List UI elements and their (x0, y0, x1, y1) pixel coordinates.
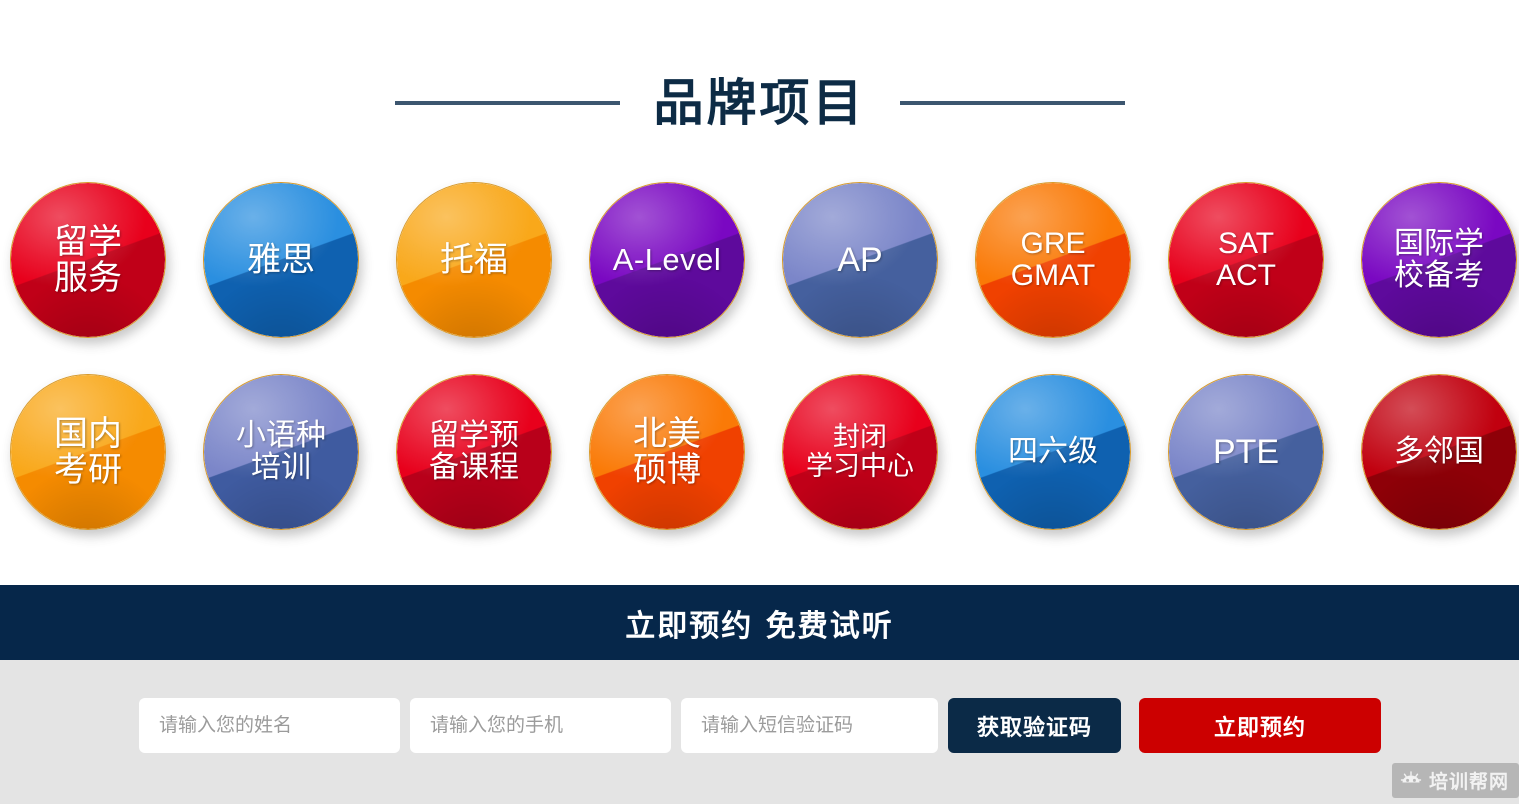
program-label-line: GRE (1011, 228, 1095, 260)
program-label-line: 雅思 (247, 242, 315, 278)
program-label: GREGMAT (1005, 228, 1101, 292)
program-bubble[interactable]: 多邻国 (1361, 374, 1517, 530)
program-label: 多邻国 (1388, 436, 1490, 468)
program-cell: 国内考研 (10, 370, 203, 562)
program-cell: SATACT (1168, 178, 1361, 370)
program-cell: 封闭学习中心 (782, 370, 975, 562)
program-bubble[interactable]: 北美硕博 (589, 374, 745, 530)
cta-banner-text: 立即预约 免费试听 (625, 601, 893, 645)
program-bubble[interactable]: 小语种培训 (203, 374, 359, 530)
program-label-line: 服务 (54, 260, 122, 296)
program-cell: PTE (1168, 370, 1361, 562)
program-grid: 留学服务雅思托福A-LevelAPGREGMATSATACT国际学校备考 国内考… (0, 178, 1519, 562)
phone-input[interactable] (410, 698, 671, 753)
program-cell: 国际学校备考 (1361, 178, 1519, 370)
program-bubble[interactable]: PTE (1168, 374, 1324, 530)
program-label: A-Level (607, 244, 728, 277)
program-label-line: 托福 (440, 242, 508, 278)
program-row-2: 国内考研小语种培训留学预备课程北美硕博封闭学习中心四六级PTE多邻国 (0, 370, 1519, 562)
title-rule-right (900, 101, 1125, 105)
sun-face-icon (1400, 771, 1422, 791)
appointment-form: 获取验证码 立即预约 (139, 698, 1381, 753)
program-label-line: 考研 (54, 452, 122, 488)
page-title: 品牌项目 (654, 78, 866, 128)
program-label-line: PTE (1213, 434, 1279, 470)
program-label-line: SAT (1216, 228, 1276, 260)
program-bubble[interactable]: 雅思 (203, 182, 359, 338)
sms-code-input[interactable] (681, 698, 938, 753)
program-bubble[interactable]: 留学服务 (10, 182, 166, 338)
program-label-line: 学习中心 (806, 452, 914, 481)
program-label: 北美硕博 (627, 416, 707, 488)
title-rule-left (395, 101, 620, 105)
program-bubble[interactable]: 国际学校备考 (1361, 182, 1517, 338)
program-label-line: 硕博 (633, 452, 701, 488)
program-label-line: 四六级 (1008, 436, 1098, 468)
program-cell: 留学服务 (10, 178, 203, 370)
program-label: 留学预备课程 (423, 420, 525, 484)
name-input[interactable] (139, 698, 400, 753)
program-label: 留学服务 (48, 224, 128, 296)
program-cell: GREGMAT (975, 178, 1168, 370)
program-label-line: 国内 (54, 416, 122, 452)
site-watermark: 培训帮网 (1392, 763, 1519, 798)
program-label: SATACT (1210, 228, 1282, 292)
program-label-line: 多邻国 (1394, 436, 1484, 468)
program-label: AP (831, 242, 888, 278)
program-bubble[interactable]: AP (782, 182, 938, 338)
program-label-line: 封闭 (806, 423, 914, 452)
program-bubble[interactable]: A-Level (589, 182, 745, 338)
program-cell: 小语种培训 (203, 370, 396, 562)
program-bubble[interactable]: GREGMAT (975, 182, 1131, 338)
program-cell: 留学预备课程 (396, 370, 589, 562)
program-row-1: 留学服务雅思托福A-LevelAPGREGMATSATACT国际学校备考 (0, 178, 1519, 370)
program-bubble[interactable]: 四六级 (975, 374, 1131, 530)
program-label-line: A-Level (613, 244, 722, 277)
watermark-text: 培训帮网 (1429, 767, 1509, 794)
appointment-form-strip: 获取验证码 立即预约 (0, 660, 1519, 804)
program-cell: 托福 (396, 178, 589, 370)
submit-appointment-button[interactable]: 立即预约 (1139, 698, 1381, 753)
program-label-line: 小语种 (236, 420, 326, 452)
program-label-line: 国际学 (1394, 228, 1484, 260)
program-cell: 多邻国 (1361, 370, 1519, 562)
page-header: 品牌项目 (0, 60, 1519, 146)
program-label: 小语种培训 (230, 420, 332, 484)
program-label-line: 校备考 (1394, 260, 1484, 292)
get-sms-code-button[interactable]: 获取验证码 (948, 698, 1121, 753)
program-cell: 雅思 (203, 178, 396, 370)
program-cell: AP (782, 178, 975, 370)
program-label: 托福 (434, 242, 514, 278)
program-label-line: GMAT (1011, 260, 1095, 292)
program-cell: 北美硕博 (589, 370, 782, 562)
program-label: 雅思 (241, 242, 321, 278)
program-label-line: 备课程 (429, 452, 519, 484)
program-label-line: AP (837, 242, 882, 278)
program-label-line: ACT (1216, 260, 1276, 292)
program-bubble[interactable]: 国内考研 (10, 374, 166, 530)
program-label: 国内考研 (48, 416, 128, 488)
program-label: 四六级 (1002, 436, 1104, 468)
program-label-line: 培训 (236, 452, 326, 484)
program-cell: 四六级 (975, 370, 1168, 562)
program-label-line: 留学 (54, 224, 122, 260)
program-bubble[interactable]: 留学预备课程 (396, 374, 552, 530)
program-label: 国际学校备考 (1388, 228, 1490, 292)
cta-banner: 立即预约 免费试听 (0, 585, 1519, 660)
program-label: 封闭学习中心 (800, 423, 920, 480)
program-bubble[interactable]: 封闭学习中心 (782, 374, 938, 530)
program-label-line: 留学预 (429, 420, 519, 452)
program-bubble[interactable]: SATACT (1168, 182, 1324, 338)
program-label-line: 北美 (633, 416, 701, 452)
program-cell: A-Level (589, 178, 782, 370)
program-bubble[interactable]: 托福 (396, 182, 552, 338)
program-label: PTE (1207, 434, 1285, 470)
brand-programs-page: 品牌项目 留学服务雅思托福A-LevelAPGREGMATSATACT国际学校备… (0, 0, 1519, 804)
